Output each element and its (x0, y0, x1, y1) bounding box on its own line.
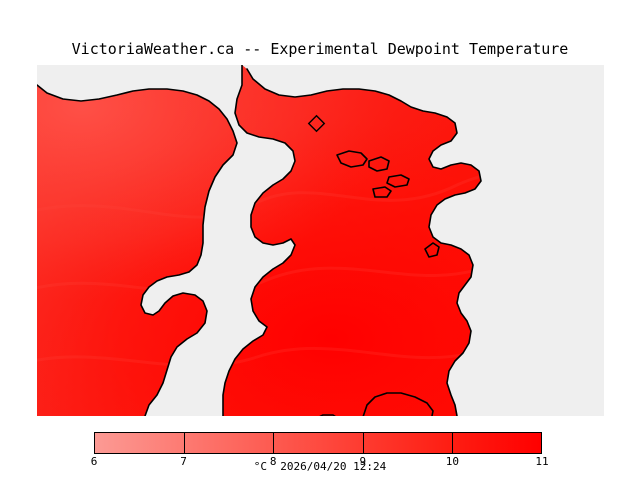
colorbar-gradient (94, 432, 542, 454)
colorbar-tick-8 (273, 432, 274, 454)
dewpoint-contour-map[interactable] (37, 65, 604, 416)
colorbar-tick-7 (184, 432, 185, 454)
colorbar-tick-10 (452, 432, 453, 454)
page-title: VictoriaWeather.ca -- Experimental Dewpo… (0, 40, 640, 58)
colorbar[interactable]: 67891011 (94, 432, 542, 454)
colorbar-caption: °C 2026/04/20 12:24 (0, 460, 640, 473)
map-panel[interactable] (37, 65, 604, 416)
colorbar-tick-9 (363, 432, 364, 454)
